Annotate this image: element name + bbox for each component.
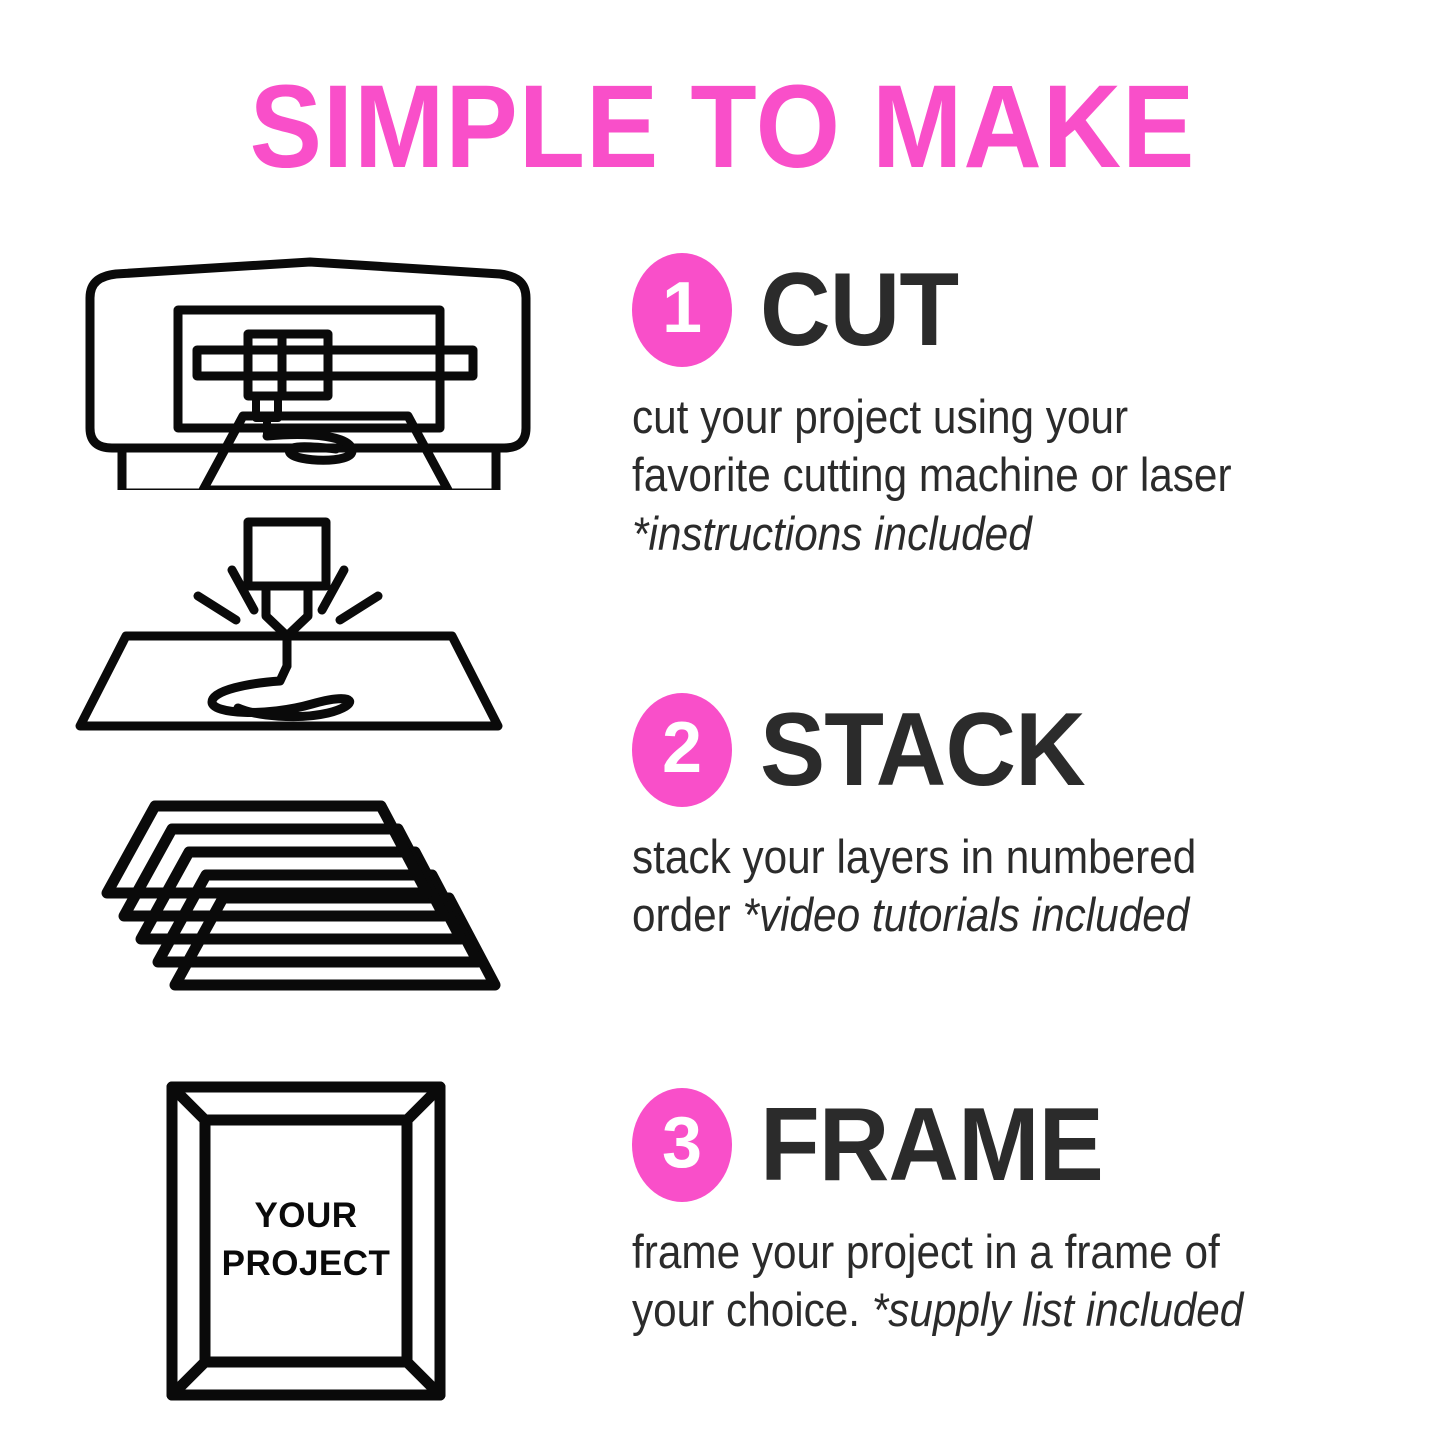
step-3-body-line-2-text: your choice. (632, 1283, 872, 1336)
step-1-body-line-1: cut your project using your (632, 388, 1393, 446)
step-1-body-line-2: favorite cutting machine or laser (632, 446, 1393, 504)
step-2-body-line-1: stack your layers in numbered (632, 828, 1393, 886)
step-3-body-line-1: frame your project in a frame of (632, 1223, 1393, 1281)
step-2-body-line-2-text: order (632, 888, 743, 941)
stacked-layers-sheets (100, 800, 540, 1020)
step-2-heading: STACK (760, 698, 1085, 802)
step-3-artwork: YOUR PROJECT (110, 1075, 655, 1445)
step-2-body-line-2: order *video tutorials included (632, 886, 1393, 944)
step-1-artwork (60, 250, 605, 640)
step-3-text: 3 FRAME frame your project in a frame of… (632, 1085, 1392, 1340)
step-1-body-note: *instructions included (632, 505, 1393, 563)
step-1-heading-line: 1 CUT (632, 250, 1392, 370)
step-row-cut: 1 CUT cut your project using your favori… (0, 250, 1445, 640)
step-row-stack: 2 STACK stack your layers in numbered or… (0, 660, 1445, 1050)
step-3-number-badge: 3 (632, 1088, 732, 1202)
step-3-heading: FRAME (760, 1093, 1103, 1197)
step-1-heading: CUT (760, 258, 958, 362)
step-3-body-note: *supply list included (872, 1283, 1244, 1336)
step-1-text: 1 CUT cut your project using your favori… (632, 250, 1392, 563)
step-2-number-badge: 2 (632, 693, 732, 807)
frame-label-line-1: YOUR (254, 1196, 357, 1235)
step-row-frame: YOUR PROJECT 3 FRAME frame your project … (0, 1055, 1445, 1445)
frame-label-line-2: PROJECT (222, 1244, 391, 1283)
step-2-text: 2 STACK stack your layers in numbered or… (632, 690, 1392, 945)
step-1-number-badge: 1 (632, 253, 732, 367)
poster-canvas: SIMPLE TO MAKE (0, 0, 1445, 1445)
step-3-heading-line: 3 FRAME (632, 1085, 1392, 1205)
step-2-heading-line: 2 STACK (632, 690, 1392, 810)
step-2-body-note: *video tutorials included (743, 888, 1190, 941)
step-1-body: cut your project using your favorite cut… (632, 388, 1393, 563)
page-title: SIMPLE TO MAKE (58, 68, 1387, 186)
picture-frame-icon: YOUR PROJECT (110, 1075, 470, 1415)
step-3-body: frame your project in a frame of your ch… (632, 1223, 1393, 1340)
cutting-machine-icon (60, 250, 605, 490)
step-2-body: stack your layers in numbered order *vid… (632, 828, 1393, 945)
step-3-body-line-2: your choice. *supply list included (632, 1281, 1393, 1339)
